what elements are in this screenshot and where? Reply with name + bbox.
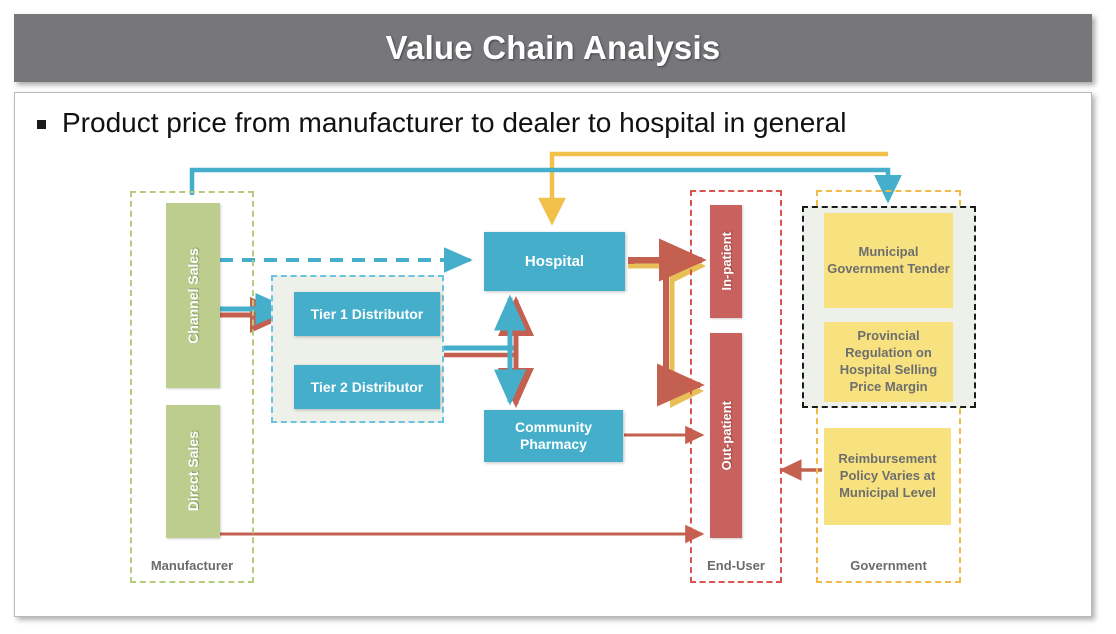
node-community-pharmacy[interactable]: Community Pharmacy [484, 410, 623, 462]
node-label-channel-sales: Channel Sales [185, 248, 201, 344]
group-label-end-user: End-User [692, 558, 780, 573]
page-title: Value Chain Analysis [386, 29, 721, 67]
group-label-manufacturer: Manufacturer [132, 558, 252, 573]
node-label-tier-2-distributor: Tier 2 Distributor [311, 379, 424, 396]
slide: Value Chain Analysis Product price from … [0, 0, 1116, 634]
node-label-hospital: Hospital [525, 253, 584, 271]
node-label-in-patient: In-patient [719, 232, 734, 291]
node-out-patient[interactable]: Out-patient [710, 333, 742, 538]
node-label-reimbursement-policy: Reimbursement Policy Varies at Municipal… [824, 451, 951, 502]
node-label-direct-sales: Direct Sales [185, 431, 201, 511]
slide-title-bar: Value Chain Analysis [14, 14, 1092, 82]
node-channel-sales[interactable]: Channel Sales [166, 203, 220, 388]
node-label-tier-1-distributor: Tier 1 Distributor [311, 306, 424, 323]
node-label-community-pharmacy: Community Pharmacy [484, 419, 623, 453]
node-municipal-government-tender[interactable]: Municipal Government Tender [824, 213, 953, 308]
bullet-item: Product price from manufacturer to deale… [37, 105, 846, 140]
node-label-municipal-government-tender: Municipal Government Tender [824, 244, 953, 278]
node-tier-2-distributor[interactable]: Tier 2 Distributor [294, 365, 440, 409]
node-tier-1-distributor[interactable]: Tier 1 Distributor [294, 292, 440, 336]
node-label-provincial-regulation: Provincial Regulation on Hospital Sellin… [824, 328, 953, 396]
node-reimbursement-policy[interactable]: Reimbursement Policy Varies at Municipal… [824, 428, 951, 525]
node-provincial-regulation[interactable]: Provincial Regulation on Hospital Sellin… [824, 322, 953, 402]
node-label-out-patient: Out-patient [719, 401, 734, 470]
bullet-square-icon [37, 120, 46, 129]
node-in-patient[interactable]: In-patient [710, 205, 742, 318]
node-direct-sales[interactable]: Direct Sales [166, 405, 220, 538]
node-hospital[interactable]: Hospital [484, 232, 625, 291]
group-label-government: Government [818, 558, 959, 573]
bullet-text: Product price from manufacturer to deale… [62, 105, 846, 140]
